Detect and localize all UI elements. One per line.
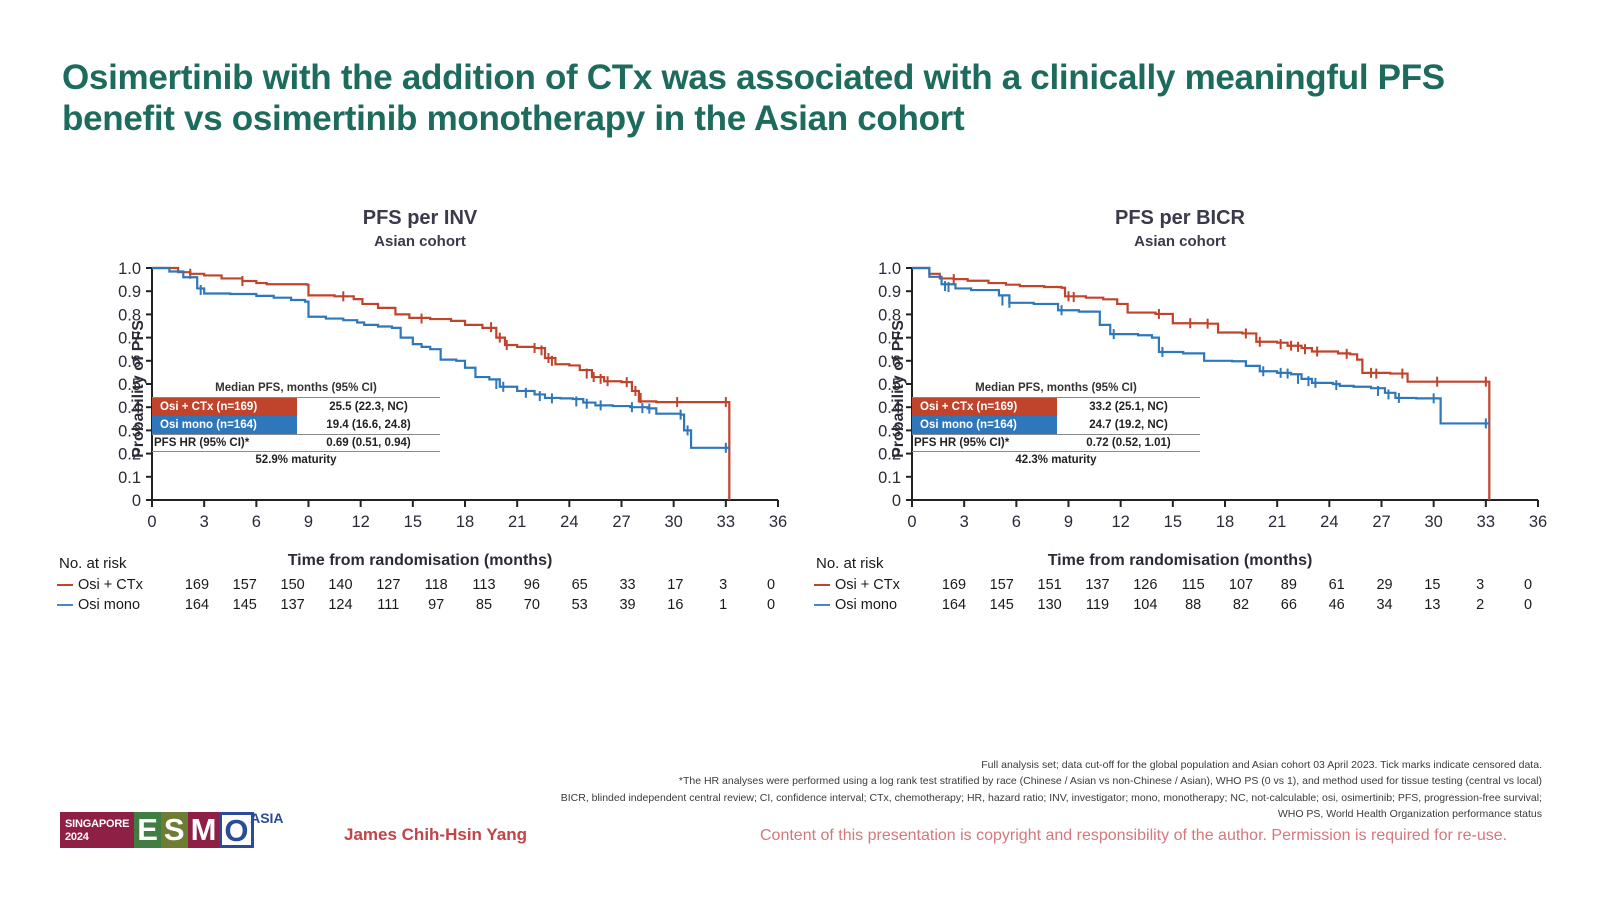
chart-title-bicr: PFS per BICR (800, 208, 1560, 229)
risk-cell: 29 (1361, 575, 1409, 595)
risk-cell: 107 (1217, 575, 1265, 595)
median-pfs-table-inv: Osi + CTx (n=169) 25.5 (22.3, NC) Osi mo… (152, 397, 440, 468)
svg-text:21: 21 (508, 513, 526, 531)
risk-cell: 89 (1265, 575, 1313, 595)
footnotes: Full analysis set; data cut-off for the … (422, 757, 1542, 822)
table-row: 52.9% maturity (152, 452, 440, 469)
risk-cell: 66 (1265, 595, 1313, 615)
arm-label-osi-ctx-bicr: Osi + CTx (n=169) (912, 398, 1057, 417)
svg-text:30: 30 (1424, 513, 1442, 531)
risk-arm-label-osi-mono-inv: Osi mono (78, 597, 140, 613)
risk-cell: 124 (317, 595, 365, 615)
table-row: Osi + CTx (n=169) 25.5 (22.3, NC) (152, 398, 440, 417)
svg-text:0.2: 0.2 (118, 446, 141, 464)
svg-text:0.6: 0.6 (878, 353, 901, 371)
risk-cell: 85 (460, 595, 508, 615)
logo-letter-s: S (161, 812, 188, 848)
table-row: Osi + CTx 169 157 150 140 127 118 113 96… (55, 575, 795, 595)
risk-arm-label-osi-mono-bicr: Osi mono (835, 597, 897, 613)
risk-table-body-bicr: Osi + CTx 169 157 151 137 126 115 107 89… (812, 575, 1552, 615)
svg-text:0.4: 0.4 (118, 399, 141, 417)
svg-text:18: 18 (1216, 513, 1234, 531)
svg-text:0.3: 0.3 (118, 422, 141, 440)
median-pfs-header-bicr: Median PFS, months (95% CI) (912, 382, 1200, 397)
risk-cell: 118 (412, 575, 460, 595)
risk-cell: 53 (556, 595, 604, 615)
svg-text:27: 27 (612, 513, 630, 531)
table-row: Osi mono (n=164) 24.7 (19.2, NC) (912, 416, 1200, 435)
footnote-line: Full analysis set; data cut-off for the … (422, 757, 1542, 773)
hr-value-bicr: 0.72 (0.52, 1.01) (1057, 435, 1200, 452)
table-row: Osi mono (n=164) 19.4 (16.6, 24.8) (152, 416, 440, 435)
risk-cell: 39 (604, 595, 652, 615)
svg-text:3: 3 (960, 513, 969, 531)
risk-cell: 65 (556, 575, 604, 595)
footnote-line: *The HR analyses were performed using a … (422, 773, 1542, 789)
esmo-asia-logo: SINGAPORE 2024 E S M O ASIA (60, 812, 254, 848)
risk-cell: 0 (747, 595, 795, 615)
chart-subtitle-inv: Asian cohort (40, 233, 800, 250)
footnote-line: BICR, blinded independent central review… (422, 790, 1542, 806)
svg-text:0.5: 0.5 (878, 376, 901, 394)
risk-cell: 82 (1217, 595, 1265, 615)
hr-value-inv: 0.69 (0.51, 0.94) (297, 435, 440, 452)
risk-cell: 111 (364, 595, 412, 615)
logo-city: SINGAPORE (65, 818, 129, 830)
svg-text:15: 15 (404, 513, 422, 531)
risk-table-body-inv: Osi + CTx 169 157 150 140 127 118 113 96… (55, 575, 795, 615)
svg-text:0: 0 (147, 513, 156, 531)
risk-cell: 0 (1504, 595, 1552, 615)
hr-label-inv: PFS HR (95% CI)* (152, 435, 297, 452)
svg-text:0.1: 0.1 (118, 469, 141, 487)
risk-cell: 88 (1169, 595, 1217, 615)
arm-label-osi-mono-bicr: Osi mono (n=164) (912, 416, 1057, 435)
line-swatch-osi-ctx-icon (814, 584, 830, 587)
svg-text:36: 36 (769, 513, 787, 531)
arm-value-osi-mono-inv: 19.4 (16.6, 24.8) (297, 416, 440, 435)
table-row: PFS HR (95% CI)* 0.72 (0.52, 1.01) (912, 435, 1200, 452)
svg-text:0: 0 (132, 492, 141, 510)
svg-text:9: 9 (1064, 513, 1073, 531)
logo-letter-o: O (219, 812, 253, 848)
table-row: PFS HR (95% CI)* 0.69 (0.51, 0.94) (152, 435, 440, 452)
risk-cell: 145 (221, 595, 269, 615)
svg-text:3: 3 (200, 513, 209, 531)
chart-subtitle-bicr: Asian cohort (800, 233, 1560, 250)
risk-cell: 140 (317, 575, 365, 595)
table-row: Osi mono 164 145 130 119 104 88 82 66 46… (812, 595, 1552, 615)
svg-text:15: 15 (1164, 513, 1182, 531)
risk-cell: 145 (978, 595, 1026, 615)
svg-text:33: 33 (717, 513, 735, 531)
logo-letter-m: M (188, 812, 220, 848)
svg-text:30: 30 (664, 513, 682, 531)
svg-text:12: 12 (351, 513, 369, 531)
risk-cell: 1 (699, 595, 747, 615)
risk-cell: 157 (978, 575, 1026, 595)
table-row: Osi + CTx (n=169) 33.2 (25.1, NC) (912, 398, 1200, 417)
median-pfs-box-bicr: Median PFS, months (95% CI) Osi + CTx (n… (912, 382, 1200, 468)
table-row: Osi + CTx 169 157 151 137 126 115 107 89… (812, 575, 1552, 595)
arm-label-osi-mono-inv: Osi mono (n=164) (152, 416, 297, 435)
risk-cell: 119 (1074, 595, 1122, 615)
svg-text:0.9: 0.9 (118, 283, 141, 301)
svg-text:0.7: 0.7 (878, 330, 901, 348)
copyright-notice: Content of this presentation is copyrigh… (760, 827, 1507, 845)
svg-text:36: 36 (1529, 513, 1547, 531)
risk-cell: 33 (604, 575, 652, 595)
maturity-inv: 52.9% maturity (152, 452, 440, 469)
median-pfs-header-inv: Median PFS, months (95% CI) (152, 382, 440, 397)
risk-cell: 17 (651, 575, 699, 595)
arm-label-osi-ctx-inv: Osi + CTx (n=169) (152, 398, 297, 417)
svg-text:0.3: 0.3 (878, 422, 901, 440)
risk-cell: 70 (508, 595, 556, 615)
svg-text:0.9: 0.9 (878, 283, 901, 301)
svg-text:24: 24 (560, 513, 578, 531)
arm-value-osi-ctx-inv: 25.5 (22.3, NC) (297, 398, 440, 417)
svg-text:0: 0 (892, 492, 901, 510)
svg-text:1.0: 1.0 (118, 260, 141, 278)
risk-arm-label-osi-ctx-bicr: Osi + CTx (835, 577, 900, 593)
chart-title-inv: PFS per INV (40, 208, 800, 229)
svg-text:9: 9 (304, 513, 313, 531)
risk-cell: 0 (747, 575, 795, 595)
risk-cell: 3 (1456, 575, 1504, 595)
svg-text:33: 33 (1477, 513, 1495, 531)
svg-text:0.4: 0.4 (878, 399, 901, 417)
risk-cell: 164 (930, 595, 978, 615)
svg-text:24: 24 (1320, 513, 1338, 531)
logo-year: 2024 (65, 831, 129, 843)
risk-cell: 130 (1026, 595, 1074, 615)
table-row: 42.3% maturity (912, 452, 1200, 469)
risk-cell: 169 (173, 575, 221, 595)
hr-label-bicr: PFS HR (95% CI)* (912, 435, 1057, 452)
risk-cell: 46 (1313, 595, 1361, 615)
risk-cell: 96 (508, 575, 556, 595)
risk-cell: 61 (1313, 575, 1361, 595)
risk-table-title-inv: No. at risk (55, 555, 795, 572)
risk-cell: 15 (1408, 575, 1456, 595)
table-row: Osi mono 164 145 137 124 111 97 85 70 53… (55, 595, 795, 615)
risk-cell: 13 (1408, 595, 1456, 615)
svg-text:1.0: 1.0 (878, 260, 901, 278)
arm-value-osi-mono-bicr: 24.7 (19.2, NC) (1057, 416, 1200, 435)
line-swatch-osi-mono-icon (814, 604, 830, 607)
risk-cell: 151 (1026, 575, 1074, 595)
svg-text:18: 18 (456, 513, 474, 531)
risk-table-title-bicr: No. at risk (812, 555, 1552, 572)
risk-cell: 137 (1074, 575, 1122, 595)
logo-letter-e: E (134, 812, 161, 848)
risk-cell: 115 (1169, 575, 1217, 595)
svg-text:0.8: 0.8 (878, 306, 901, 324)
presenter-name: James Chih-Hsin Yang (344, 825, 527, 845)
logo-esmo-wordmark: E S M O ASIA (134, 812, 253, 848)
svg-text:0.7: 0.7 (118, 330, 141, 348)
risk-cell: 2 (1456, 595, 1504, 615)
risk-cell: 157 (221, 575, 269, 595)
line-swatch-osi-ctx-icon (57, 584, 73, 587)
risk-cell: 113 (460, 575, 508, 595)
risk-table-inv: No. at risk Osi + CTx 169 157 150 140 12… (55, 555, 795, 615)
logo-singapore-2024: SINGAPORE 2024 (60, 812, 134, 848)
maturity-bicr: 42.3% maturity (912, 452, 1200, 469)
svg-text:0.1: 0.1 (878, 469, 901, 487)
risk-cell: 0 (1504, 575, 1552, 595)
risk-arm-label-osi-ctx-inv: Osi + CTx (78, 577, 143, 593)
svg-text:27: 27 (1372, 513, 1390, 531)
risk-table-bicr: No. at risk Osi + CTx 169 157 151 137 12… (812, 555, 1552, 615)
svg-text:6: 6 (252, 513, 261, 531)
risk-cell: 137 (269, 595, 317, 615)
median-pfs-box-inv: Median PFS, months (95% CI) Osi + CTx (n… (152, 382, 440, 468)
risk-cell: 104 (1121, 595, 1169, 615)
risk-cell: 126 (1121, 575, 1169, 595)
arm-value-osi-ctx-bicr: 33.2 (25.1, NC) (1057, 398, 1200, 417)
svg-text:0: 0 (907, 513, 916, 531)
risk-cell: 164 (173, 595, 221, 615)
risk-cell: 16 (651, 595, 699, 615)
svg-text:21: 21 (1268, 513, 1286, 531)
risk-cell: 34 (1361, 595, 1409, 615)
svg-text:0.6: 0.6 (118, 353, 141, 371)
risk-cell: 3 (699, 575, 747, 595)
svg-text:0.8: 0.8 (118, 306, 141, 324)
risk-cell: 97 (412, 595, 460, 615)
footnote-line: WHO PS, World Health Organization perfor… (422, 806, 1542, 822)
median-pfs-table-bicr: Osi + CTx (n=169) 33.2 (25.1, NC) Osi mo… (912, 397, 1200, 468)
risk-cell: 150 (269, 575, 317, 595)
svg-text:6: 6 (1012, 513, 1021, 531)
line-swatch-osi-mono-icon (57, 604, 73, 607)
risk-cell: 169 (930, 575, 978, 595)
risk-cell: 127 (364, 575, 412, 595)
svg-text:0.2: 0.2 (878, 446, 901, 464)
svg-text:12: 12 (1111, 513, 1129, 531)
svg-text:0.5: 0.5 (118, 376, 141, 394)
logo-asia-text: ASIA (250, 810, 283, 826)
page-title: Osimertinib with the addition of CTx was… (62, 58, 1522, 139)
